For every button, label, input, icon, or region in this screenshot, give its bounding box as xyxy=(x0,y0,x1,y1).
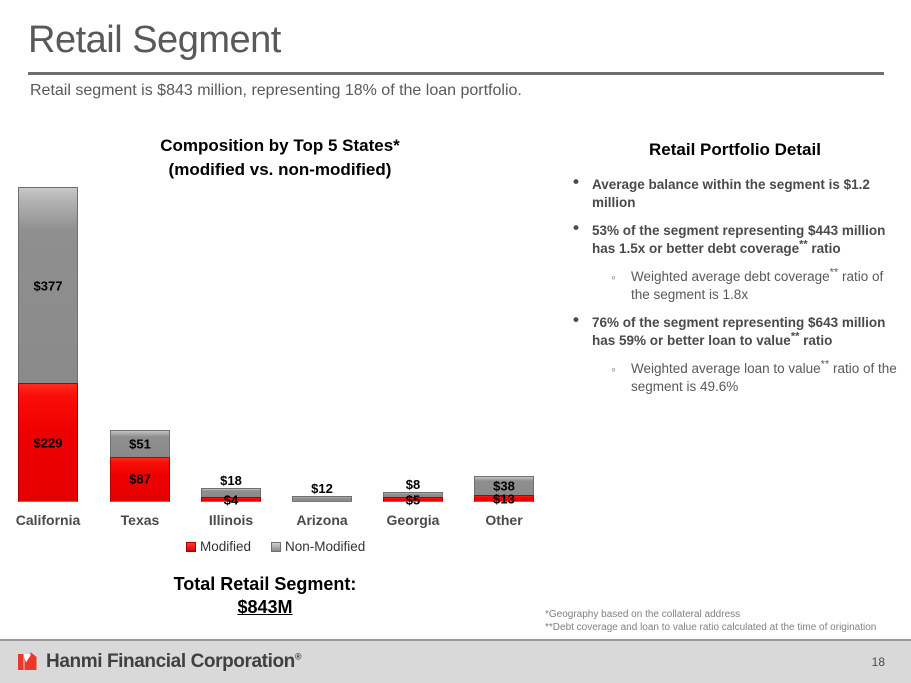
bar-segment-non-modified[interactable]: $12 xyxy=(292,496,352,502)
bar-value-label-modified: $5 xyxy=(384,492,442,507)
bar-segment-non-modified[interactable]: $51 xyxy=(110,430,170,456)
bar-value-label-modified: $87 xyxy=(111,472,169,487)
bar-segment-non-modified[interactable]: $377 xyxy=(18,187,78,383)
bar-value-label-non-modified: $18 xyxy=(202,473,260,488)
bar-value-label-non-modified: $51 xyxy=(111,437,169,452)
legend-label-modified: Modified xyxy=(200,539,251,554)
legend-swatch-non-modified-icon xyxy=(271,542,281,552)
bullet-text-pre: Weighted average loan to value xyxy=(631,361,821,376)
page-title: Retail Segment xyxy=(28,18,281,62)
bullet-text-pre: 76% of the segment representing $643 mil… xyxy=(592,315,885,348)
bar-value-label-non-modified: $377 xyxy=(19,278,77,293)
legend-item-modified: Modified xyxy=(186,539,251,554)
bar-value-label-modified: $229 xyxy=(19,435,77,450)
bar-segment-modified[interactable]: $87 xyxy=(110,457,170,502)
bar-group-california[interactable]: $377$229 xyxy=(18,187,78,502)
portfolio-detail-bullets: Average balance within the segment is $1… xyxy=(565,176,905,406)
bullet-text-post: ratio xyxy=(808,241,841,256)
bullet-text-pre: 53% of the segment representing $443 mil… xyxy=(592,223,885,256)
slide-footer: Hanmi Financial Corporation® 18 xyxy=(0,639,911,683)
bullet-item-3: 76% of the segment representing $643 mil… xyxy=(565,314,905,350)
bar-value-label-non-modified: $12 xyxy=(293,481,351,496)
page-subtitle: Retail segment is $843 million, represen… xyxy=(30,80,522,102)
footnote-marker: ** xyxy=(821,359,830,371)
total-retail-segment: Total Retail Segment: $843M xyxy=(100,573,430,619)
total-caption: Total Retail Segment: xyxy=(100,573,430,596)
chart-legend: Modified Non-Modified xyxy=(186,539,365,554)
footnote-2: **Debt coverage and loan to value ratio … xyxy=(545,621,876,634)
footnote-1: *Geography based on the collateral addre… xyxy=(545,608,876,621)
bar-value-label-modified: $13 xyxy=(475,491,533,506)
legend-swatch-modified-icon xyxy=(186,542,196,552)
bar-value-label-non-modified: $8 xyxy=(384,477,442,492)
bullet-text-post: ratio xyxy=(799,333,832,348)
header-divider xyxy=(28,72,884,75)
panel-title: Retail Portfolio Detail xyxy=(565,140,905,160)
total-amount: $843M xyxy=(237,596,292,619)
sub-bullet-item-2: Weighted average debt coverage** ratio o… xyxy=(565,268,905,304)
chart-title-line1: Composition by Top 5 States* xyxy=(10,134,550,158)
stacked-bar-chart: $377$229$51$87$18$4$12$8$5$38$13 xyxy=(0,180,560,510)
page-number: 18 xyxy=(872,655,885,669)
slide: Retail Segment Retail segment is $843 mi… xyxy=(0,0,911,683)
footnotes: *Geography based on the collateral addre… xyxy=(545,608,876,634)
bar-value-label-modified: $4 xyxy=(202,492,260,507)
bar-group-other[interactable]: $38$13 xyxy=(474,476,534,502)
bar-segment-modified[interactable]: $4 xyxy=(201,497,261,502)
bar-segment-modified[interactable]: $13 xyxy=(474,495,534,502)
brand-logo-text: Hanmi Financial Corporation® xyxy=(46,651,301,673)
chart-title-line2: (modified vs. non-modified) xyxy=(10,158,550,182)
bullet-item-0: Average balance within the segment is $1… xyxy=(565,176,905,212)
bar-group-texas[interactable]: $51$87 xyxy=(110,430,170,502)
bullet-item-1: 53% of the segment representing $443 mil… xyxy=(565,222,905,258)
hanmi-logo-mark-icon xyxy=(18,651,39,673)
legend-item-non-modified: Non-Modified xyxy=(271,539,365,554)
footnote-marker: ** xyxy=(830,267,839,279)
bar-group-arizona[interactable]: $12 xyxy=(292,496,352,502)
bar-group-illinois[interactable]: $18$4 xyxy=(201,488,261,502)
bar-group-georgia[interactable]: $8$5 xyxy=(383,492,443,502)
chart-title: Composition by Top 5 States* (modified v… xyxy=(10,134,550,182)
bar-segment-modified[interactable]: $229 xyxy=(18,383,78,502)
bullet-text-pre: Weighted average debt coverage xyxy=(631,269,830,284)
bar-segment-modified[interactable]: $5 xyxy=(383,497,443,502)
legend-label-non-modified: Non-Modified xyxy=(285,539,365,554)
sub-bullet-item-4: Weighted average loan to value** ratio o… xyxy=(565,360,905,396)
chart-category-label-other: Other xyxy=(444,512,564,528)
footnote-marker: ** xyxy=(799,239,808,251)
brand-trademark: ® xyxy=(295,652,301,662)
brand-logo: Hanmi Financial Corporation® xyxy=(18,651,301,673)
